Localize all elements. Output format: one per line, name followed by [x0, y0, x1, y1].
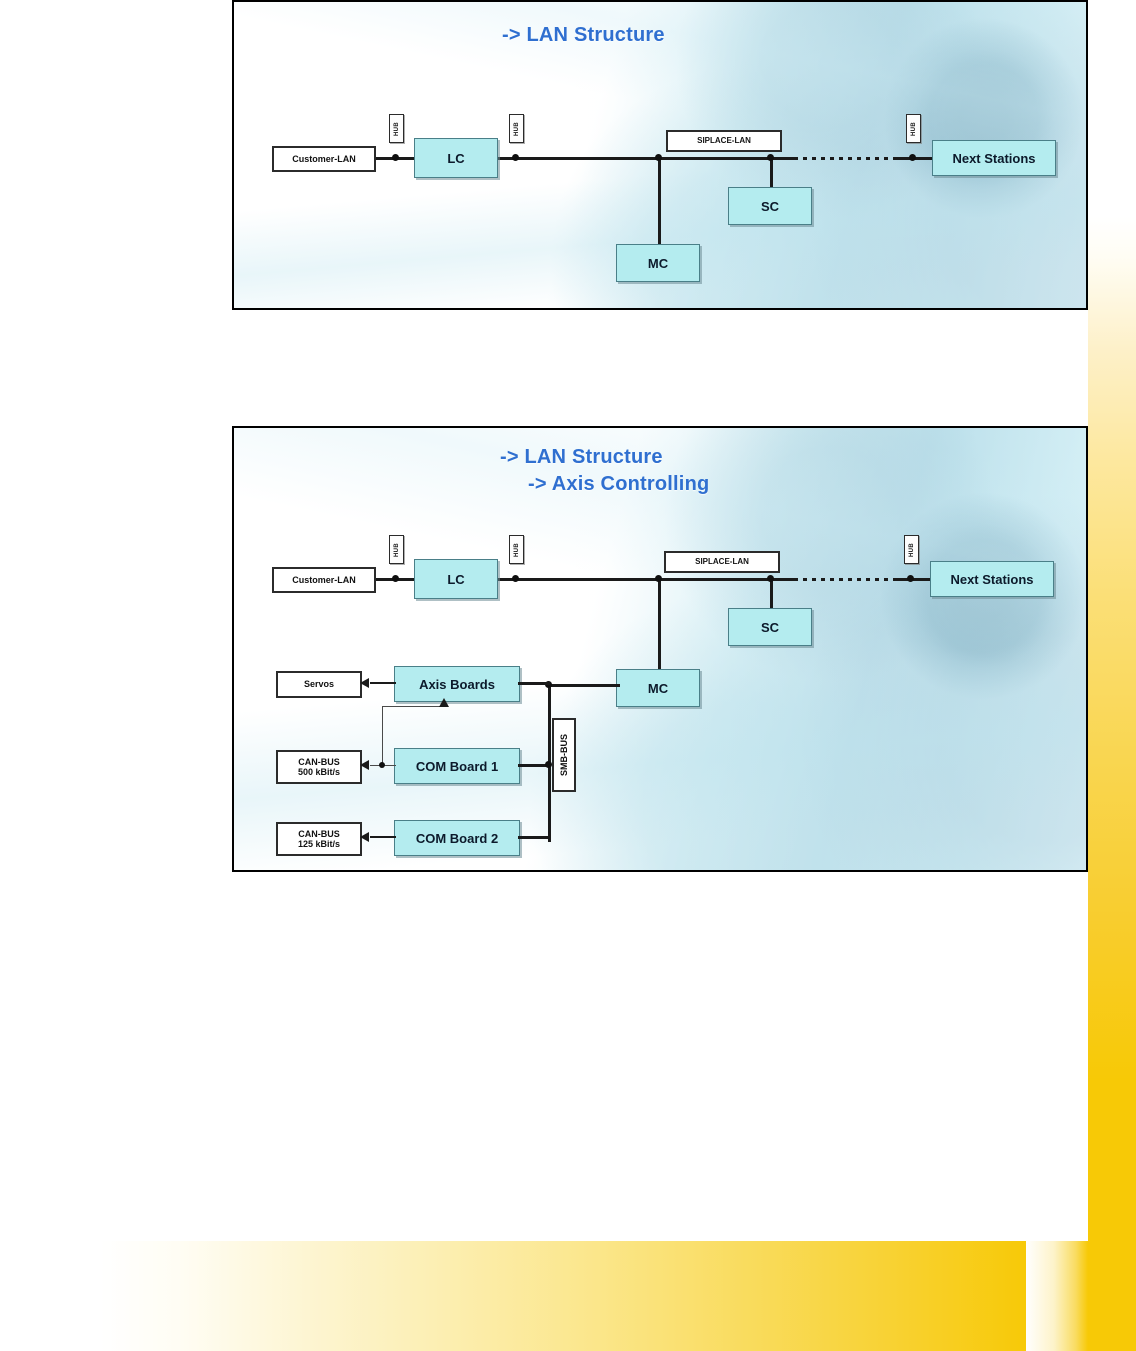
bus-node-dot [545, 761, 552, 768]
axis-boards-label: Axis Boards [419, 677, 495, 692]
com1-feedback-node-dot [379, 762, 385, 768]
com-board-1-box: COM Board 1 [394, 748, 520, 784]
sc-box: SC [728, 608, 812, 646]
axis-boards-arrow-icon [439, 698, 449, 707]
com2-to-smb-line [518, 836, 550, 839]
hub-label: HUB [394, 543, 400, 557]
bus-node-dot [392, 575, 399, 582]
mc-branch-line [658, 578, 661, 670]
hub-label: HUB [514, 122, 520, 136]
can-bus-125-box: CAN-BUS 125 kBit/s [276, 822, 362, 856]
lc-label: LC [447, 151, 464, 166]
bus-node-dot [655, 154, 662, 161]
com1-feedback-hline [382, 706, 444, 707]
bus-dotted-segment [794, 157, 900, 160]
hub-icon-3: HUB [906, 114, 921, 143]
next-stations-label: Next Stations [950, 572, 1033, 587]
bus-dotted-segment [794, 578, 900, 581]
servos-box: Servos [276, 671, 362, 698]
sc-label: SC [761, 199, 779, 214]
com2-to-canbus-line [370, 836, 396, 838]
mc-label: MC [648, 681, 668, 696]
hub-icon-1: HUB [389, 114, 404, 143]
hub-label: HUB [909, 543, 915, 557]
mc-box: MC [616, 669, 700, 707]
next-stations-box: Next Stations [930, 561, 1054, 597]
axis-boards-box: Axis Boards [394, 666, 520, 702]
sc-box: SC [728, 187, 812, 225]
can-bus-125-line2: 125 kBit/s [298, 839, 340, 849]
sc-branch-line [770, 157, 773, 189]
customer-lan-label: Customer-LAN [292, 575, 356, 585]
axis-to-servos-line [370, 682, 396, 684]
customer-lan-box: Customer-LAN [272, 567, 376, 593]
com-board-2-box: COM Board 2 [394, 820, 520, 856]
hub-icon-2: HUB [509, 114, 524, 143]
servos-arrow-icon [360, 678, 369, 688]
footer-accent-band [100, 1241, 1136, 1351]
hub-icon-2: HUB [509, 535, 524, 564]
customer-lan-label: Customer-LAN [292, 154, 356, 164]
can-bus-500-box: CAN-BUS 500 kBit/s [276, 750, 362, 784]
slide2-title-line1: -> LAN Structure [500, 446, 663, 469]
slide2-title-line2: -> Axis Controlling [528, 473, 709, 496]
can-bus-500-line1: CAN-BUS [298, 757, 340, 767]
next-stations-box: Next Stations [932, 140, 1056, 176]
mc-label: MC [648, 256, 668, 271]
can-bus-500-arrow-icon [360, 760, 369, 770]
bus-node-dot [655, 575, 662, 582]
can-bus-125-arrow-icon [360, 832, 369, 842]
hub-icon-1: HUB [389, 535, 404, 564]
lc-box: LC [414, 559, 498, 599]
bus-node-dot [392, 154, 399, 161]
com1-feedback-vline [382, 706, 383, 766]
axis-boards-to-smb-line [518, 682, 550, 685]
lan-structure-slide: -> LAN Structure Customer-LAN LC HUB HUB… [232, 0, 1088, 310]
bus-node-dot [767, 154, 774, 161]
footer-accent-band-fade [1026, 1241, 1088, 1351]
mc-to-smb-link [550, 684, 620, 687]
servos-label: Servos [304, 679, 334, 689]
bus-node-dot [512, 154, 519, 161]
smb-bus-label-box: SMB-BUS [552, 718, 576, 792]
lc-box: LC [414, 138, 498, 178]
slide1-title: -> LAN Structure [502, 24, 665, 47]
bus-node-dot [909, 154, 916, 161]
bus-node-dot [907, 575, 914, 582]
right-accent-band [1088, 0, 1136, 1351]
mc-box: MC [616, 244, 700, 282]
bus-segment-mid [506, 578, 796, 581]
lc-label: LC [447, 572, 464, 587]
next-stations-label: Next Stations [952, 151, 1035, 166]
siplace-lan-label-box: SIPLACE-LAN [666, 130, 782, 152]
hub-label: HUB [394, 122, 400, 136]
hub-label: HUB [911, 122, 917, 136]
hub-label: HUB [514, 543, 520, 557]
smb-bus-label: SMB-BUS [559, 734, 569, 776]
bus-segment-mid [506, 157, 796, 160]
customer-lan-box: Customer-LAN [272, 146, 376, 172]
can-bus-125-line1: CAN-BUS [298, 829, 340, 839]
sc-label: SC [761, 620, 779, 635]
lan-structure-axis-controlling-slide: -> LAN Structure -> Axis Controlling Cus… [232, 426, 1088, 872]
com-board-2-label: COM Board 2 [416, 831, 498, 846]
can-bus-500-line2: 500 kBit/s [298, 767, 340, 777]
bus-node-dot [767, 575, 774, 582]
bus-node-dot [512, 575, 519, 582]
hub-icon-3: HUB [904, 535, 919, 564]
siplace-lan-label-box: SIPLACE-LAN [664, 551, 780, 573]
siplace-lan-label: SIPLACE-LAN [695, 557, 749, 566]
sc-branch-line [770, 578, 773, 610]
mc-branch-line [658, 157, 661, 245]
com-board-1-label: COM Board 1 [416, 759, 498, 774]
siplace-lan-label: SIPLACE-LAN [697, 136, 751, 145]
